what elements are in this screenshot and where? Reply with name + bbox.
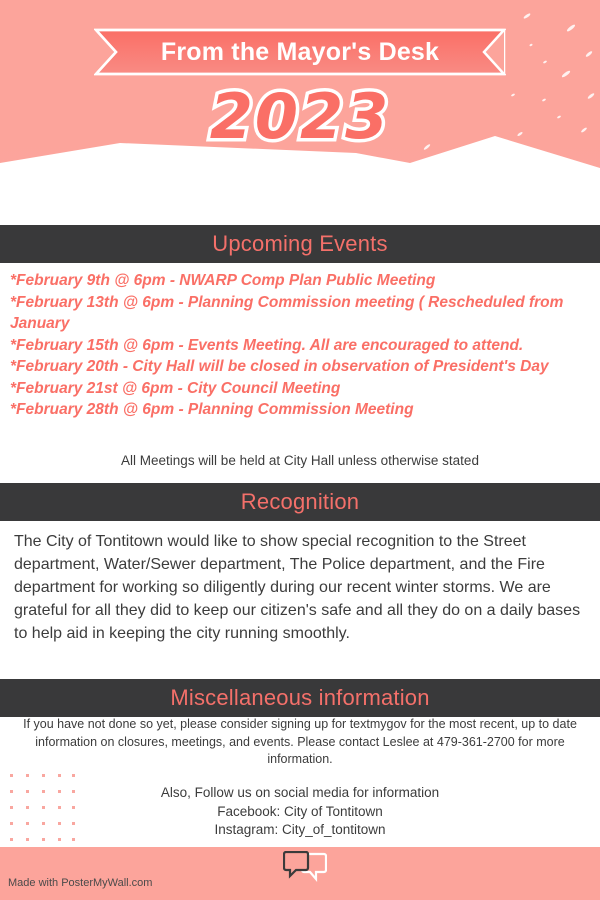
poster-canvas: From the Mayor's Desk 2023 Upcoming Even… bbox=[0, 0, 600, 900]
section-title-misc: Miscellaneous information bbox=[170, 685, 429, 711]
events-note: All Meetings will be held at City Hall u… bbox=[0, 452, 600, 470]
social-block: Also, Follow us on social media for info… bbox=[18, 784, 582, 840]
event-item: *February 28th @ 6pm - Planning Commissi… bbox=[10, 399, 590, 421]
poster-header: From the Mayor's Desk 2023 bbox=[0, 0, 600, 225]
section-title-events: Upcoming Events bbox=[212, 231, 387, 257]
event-item: *February 9th @ 6pm - NWARP Comp Plan Pu… bbox=[10, 270, 590, 292]
section-title-recognition: Recognition bbox=[241, 489, 359, 515]
speech-bubbles-icon bbox=[283, 851, 327, 885]
social-facebook: Facebook: City of Tontitown bbox=[18, 803, 582, 822]
credit-text: Made with PosterMyWall.com bbox=[8, 877, 152, 889]
events-list: *February 9th @ 6pm - NWARP Comp Plan Pu… bbox=[10, 270, 590, 421]
event-item: *February 21st @ 6pm - City Council Meet… bbox=[10, 378, 590, 400]
section-header-misc: Miscellaneous information bbox=[0, 679, 600, 717]
ribbon-banner: From the Mayor's Desk bbox=[94, 28, 506, 76]
ribbon-title: From the Mayor's Desk bbox=[94, 28, 506, 76]
section-header-events: Upcoming Events bbox=[0, 225, 600, 263]
event-item: *February 13th @ 6pm - Planning Commissi… bbox=[10, 292, 590, 335]
social-intro: Also, Follow us on social media for info… bbox=[18, 784, 582, 803]
misc-body: If you have not done so yet, please cons… bbox=[18, 716, 582, 769]
event-item: *February 20th - City Hall will be close… bbox=[10, 356, 590, 378]
social-instagram: Instagram: City_of_tontitown bbox=[18, 821, 582, 840]
event-item: *February 15th @ 6pm - Events Meeting. A… bbox=[10, 335, 590, 357]
section-header-recognition: Recognition bbox=[0, 483, 600, 521]
recognition-body: The City of Tontitown would like to show… bbox=[14, 530, 586, 645]
